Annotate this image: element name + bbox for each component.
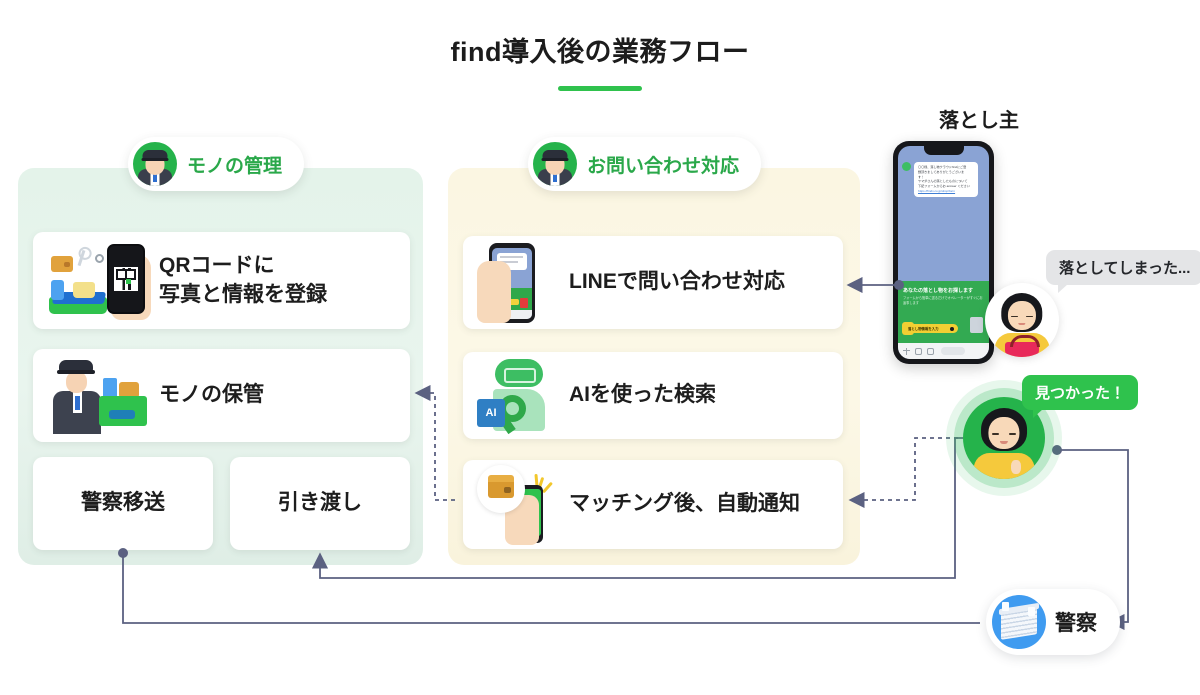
card-qr-register-line1: QRコードに xyxy=(159,252,327,280)
page-title: find導入後の業務フロー xyxy=(0,30,1200,69)
card-qr-register-title: QRコードに 写真と情報を登録 xyxy=(159,252,327,309)
card-ai-search-title: AIを使った検索 xyxy=(569,381,716,409)
phone-notch xyxy=(924,146,964,155)
owner-label: 落とし主 xyxy=(884,104,1074,133)
chat-message-bubble: 〇〇様、落し物クラウドfindにご登 録頂きましてありがとうございま す！ ヤマ… xyxy=(914,162,978,197)
gallery-icon[interactable] xyxy=(927,348,934,355)
rich-menu-input-button-label: 落とし物情報を入力 xyxy=(908,326,939,331)
line-account-avatar-icon xyxy=(902,162,911,171)
speech-bubble-lost: 落としてしまった... xyxy=(1046,250,1200,285)
card-auto-notify-title: マッチング後、自動通知 xyxy=(569,490,800,518)
police-label: 警察 xyxy=(1055,607,1097,637)
card-qr-register[interactable]: QRコードに 写真と情報を登録 xyxy=(33,232,410,329)
qr-scan-phone-icon xyxy=(47,242,151,320)
card-ai-search[interactable]: AI AIを使った検索 xyxy=(463,352,843,439)
plus-icon[interactable] xyxy=(903,348,910,355)
card-police-transfer-title: 警察移送 xyxy=(81,489,165,517)
title-underline-accent xyxy=(558,86,642,91)
ai-search-brain-icon: AI xyxy=(477,359,565,433)
card-line-inquiry-title: LINEで問い合わせ対応 xyxy=(569,268,785,296)
chat-input-field[interactable] xyxy=(941,347,965,355)
staff-officer-avatar-icon xyxy=(533,142,577,186)
owner-phone-mockup: 〇〇様、落し物クラウドfindにご登 録頂きましてありがとうございま す！ ヤマ… xyxy=(893,141,994,364)
staff-storage-box-icon xyxy=(47,358,151,434)
line-rich-menu[interactable]: あなたの落とし物をお探します フォームから簡単に送るだけでオペレーターがすぐにお… xyxy=(898,281,989,343)
chat-toolbar[interactable] xyxy=(898,343,989,359)
badge-inquiry-response-label: お問い合わせ対応 xyxy=(587,151,739,178)
card-item-storage-title: モノの保管 xyxy=(159,381,264,409)
badge-item-management-label: モノの管理 xyxy=(187,151,282,178)
police-station-icon xyxy=(992,595,1046,649)
camera-icon[interactable] xyxy=(915,348,922,355)
card-line-inquiry[interactable]: LINEで問い合わせ対応 xyxy=(463,236,843,329)
flow-diagram-canvas: find導入後の業務フロー モノの管理 お問い合わせ対応 QRコードに 写真 xyxy=(0,0,1200,695)
rich-menu-subtext: フォームから簡単に送るだけでオペレーターがすぐにお返事します xyxy=(903,296,984,306)
card-item-storage[interactable]: モノの保管 xyxy=(33,349,410,442)
card-police-transfer[interactable]: 警察移送 xyxy=(33,457,213,550)
chat-message-row: 〇〇様、落し物クラウドfindにご登 録頂きましてありがとうございま す！ ヤマ… xyxy=(902,162,978,197)
phone-screen: 〇〇様、落し物クラウドfindにご登 録頂きましてありがとうございま す！ ヤマ… xyxy=(898,146,989,359)
badge-inquiry-response: お問い合わせ対応 xyxy=(528,137,761,191)
line-chat-phone-icon xyxy=(477,243,563,323)
woman-with-handbag-avatar xyxy=(985,283,1059,357)
connector-found-to-notify xyxy=(852,438,958,500)
speech-bubble-found: 見つかった！ xyxy=(1022,375,1138,410)
card-handover[interactable]: 引き渡し xyxy=(230,457,410,550)
card-handover-title: 引き渡し xyxy=(278,489,362,517)
card-auto-notify[interactable]: マッチング後、自動通知 xyxy=(463,460,843,549)
document-thumb-icon xyxy=(970,317,983,333)
rich-menu-input-button[interactable]: 落とし物情報を入力 xyxy=(904,324,958,333)
rich-menu-heading: あなたの落とし物をお探します xyxy=(903,287,973,294)
police-node[interactable]: 警察 xyxy=(986,589,1120,655)
wallet-notification-phone-icon xyxy=(477,465,569,545)
card-qr-register-line2: 写真と情報を登録 xyxy=(159,281,327,309)
badge-item-management: モノの管理 xyxy=(128,137,304,191)
staff-officer-avatar-icon xyxy=(133,142,177,186)
chat-form-link[interactable]: https://findv.co.jp/drop/form xyxy=(918,189,974,194)
